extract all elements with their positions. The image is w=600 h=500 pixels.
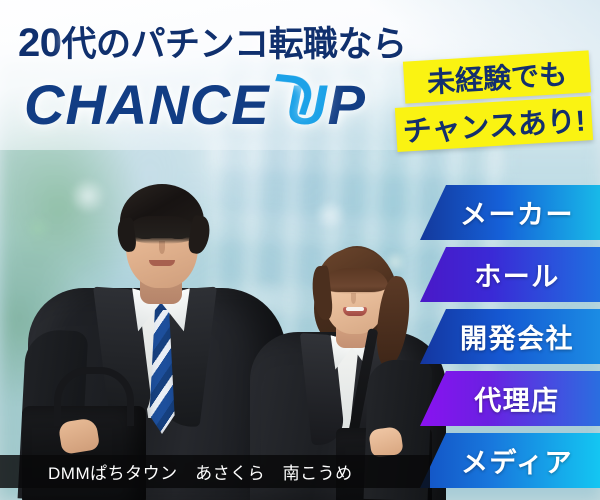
woman-teeth — [346, 307, 364, 311]
menu-item-media[interactable]: メディア — [420, 433, 600, 488]
experience-badge: 未経験でも チャンスあり! — [396, 56, 596, 152]
person-man — [28, 150, 288, 500]
menu-item-label: ホール — [460, 255, 560, 294]
caption-text: DMMぱちタウン あさくら 南こうめ — [0, 459, 353, 484]
woman-hair-fringe — [324, 268, 388, 294]
woman-hand — [368, 426, 404, 458]
menu-item-label: 開発会社 — [446, 317, 574, 356]
logo-main-text: CHANCE — [24, 73, 286, 136]
people-photo — [0, 130, 430, 500]
man-briefcase-handle — [54, 367, 134, 426]
headline-rest: 代のパチンコ転職なら — [62, 25, 407, 64]
man-hand — [58, 417, 101, 455]
man-mouth — [149, 260, 175, 266]
woman-nose — [351, 293, 356, 304]
menu-item-label: 代理店 — [460, 379, 560, 418]
menu-item-label: メーカー — [446, 193, 574, 232]
banner-ad[interactable]: 20代のパチンコ転職なら CHANCE UP 未経験でも チャンスあり! メーカ… — [0, 0, 600, 500]
brand-logo: CHANCE UP — [24, 72, 366, 137]
headline-number: 20 — [18, 21, 62, 65]
menu-item-hall[interactable]: ホール — [420, 247, 600, 302]
category-menu[interactable]: メーカー ホール 開発会社 代理店 メディア — [420, 185, 600, 495]
menu-item-label: メディア — [447, 441, 573, 480]
menu-item-development-company[interactable]: 開発会社 — [420, 309, 600, 364]
man-hair-fringe — [126, 216, 198, 244]
badge-line-1: 未経験でも — [403, 50, 591, 103]
menu-item-maker[interactable]: メーカー — [420, 185, 600, 240]
caption-band: DMMぱちタウン あさくら 南こうめ — [0, 455, 430, 488]
badge-line-2: チャンスあり! — [395, 96, 593, 152]
headline-text: 20代のパチンコ転職なら — [18, 16, 407, 67]
menu-item-agency[interactable]: 代理店 — [420, 371, 600, 426]
logo-tail-letter: P — [328, 73, 366, 136]
